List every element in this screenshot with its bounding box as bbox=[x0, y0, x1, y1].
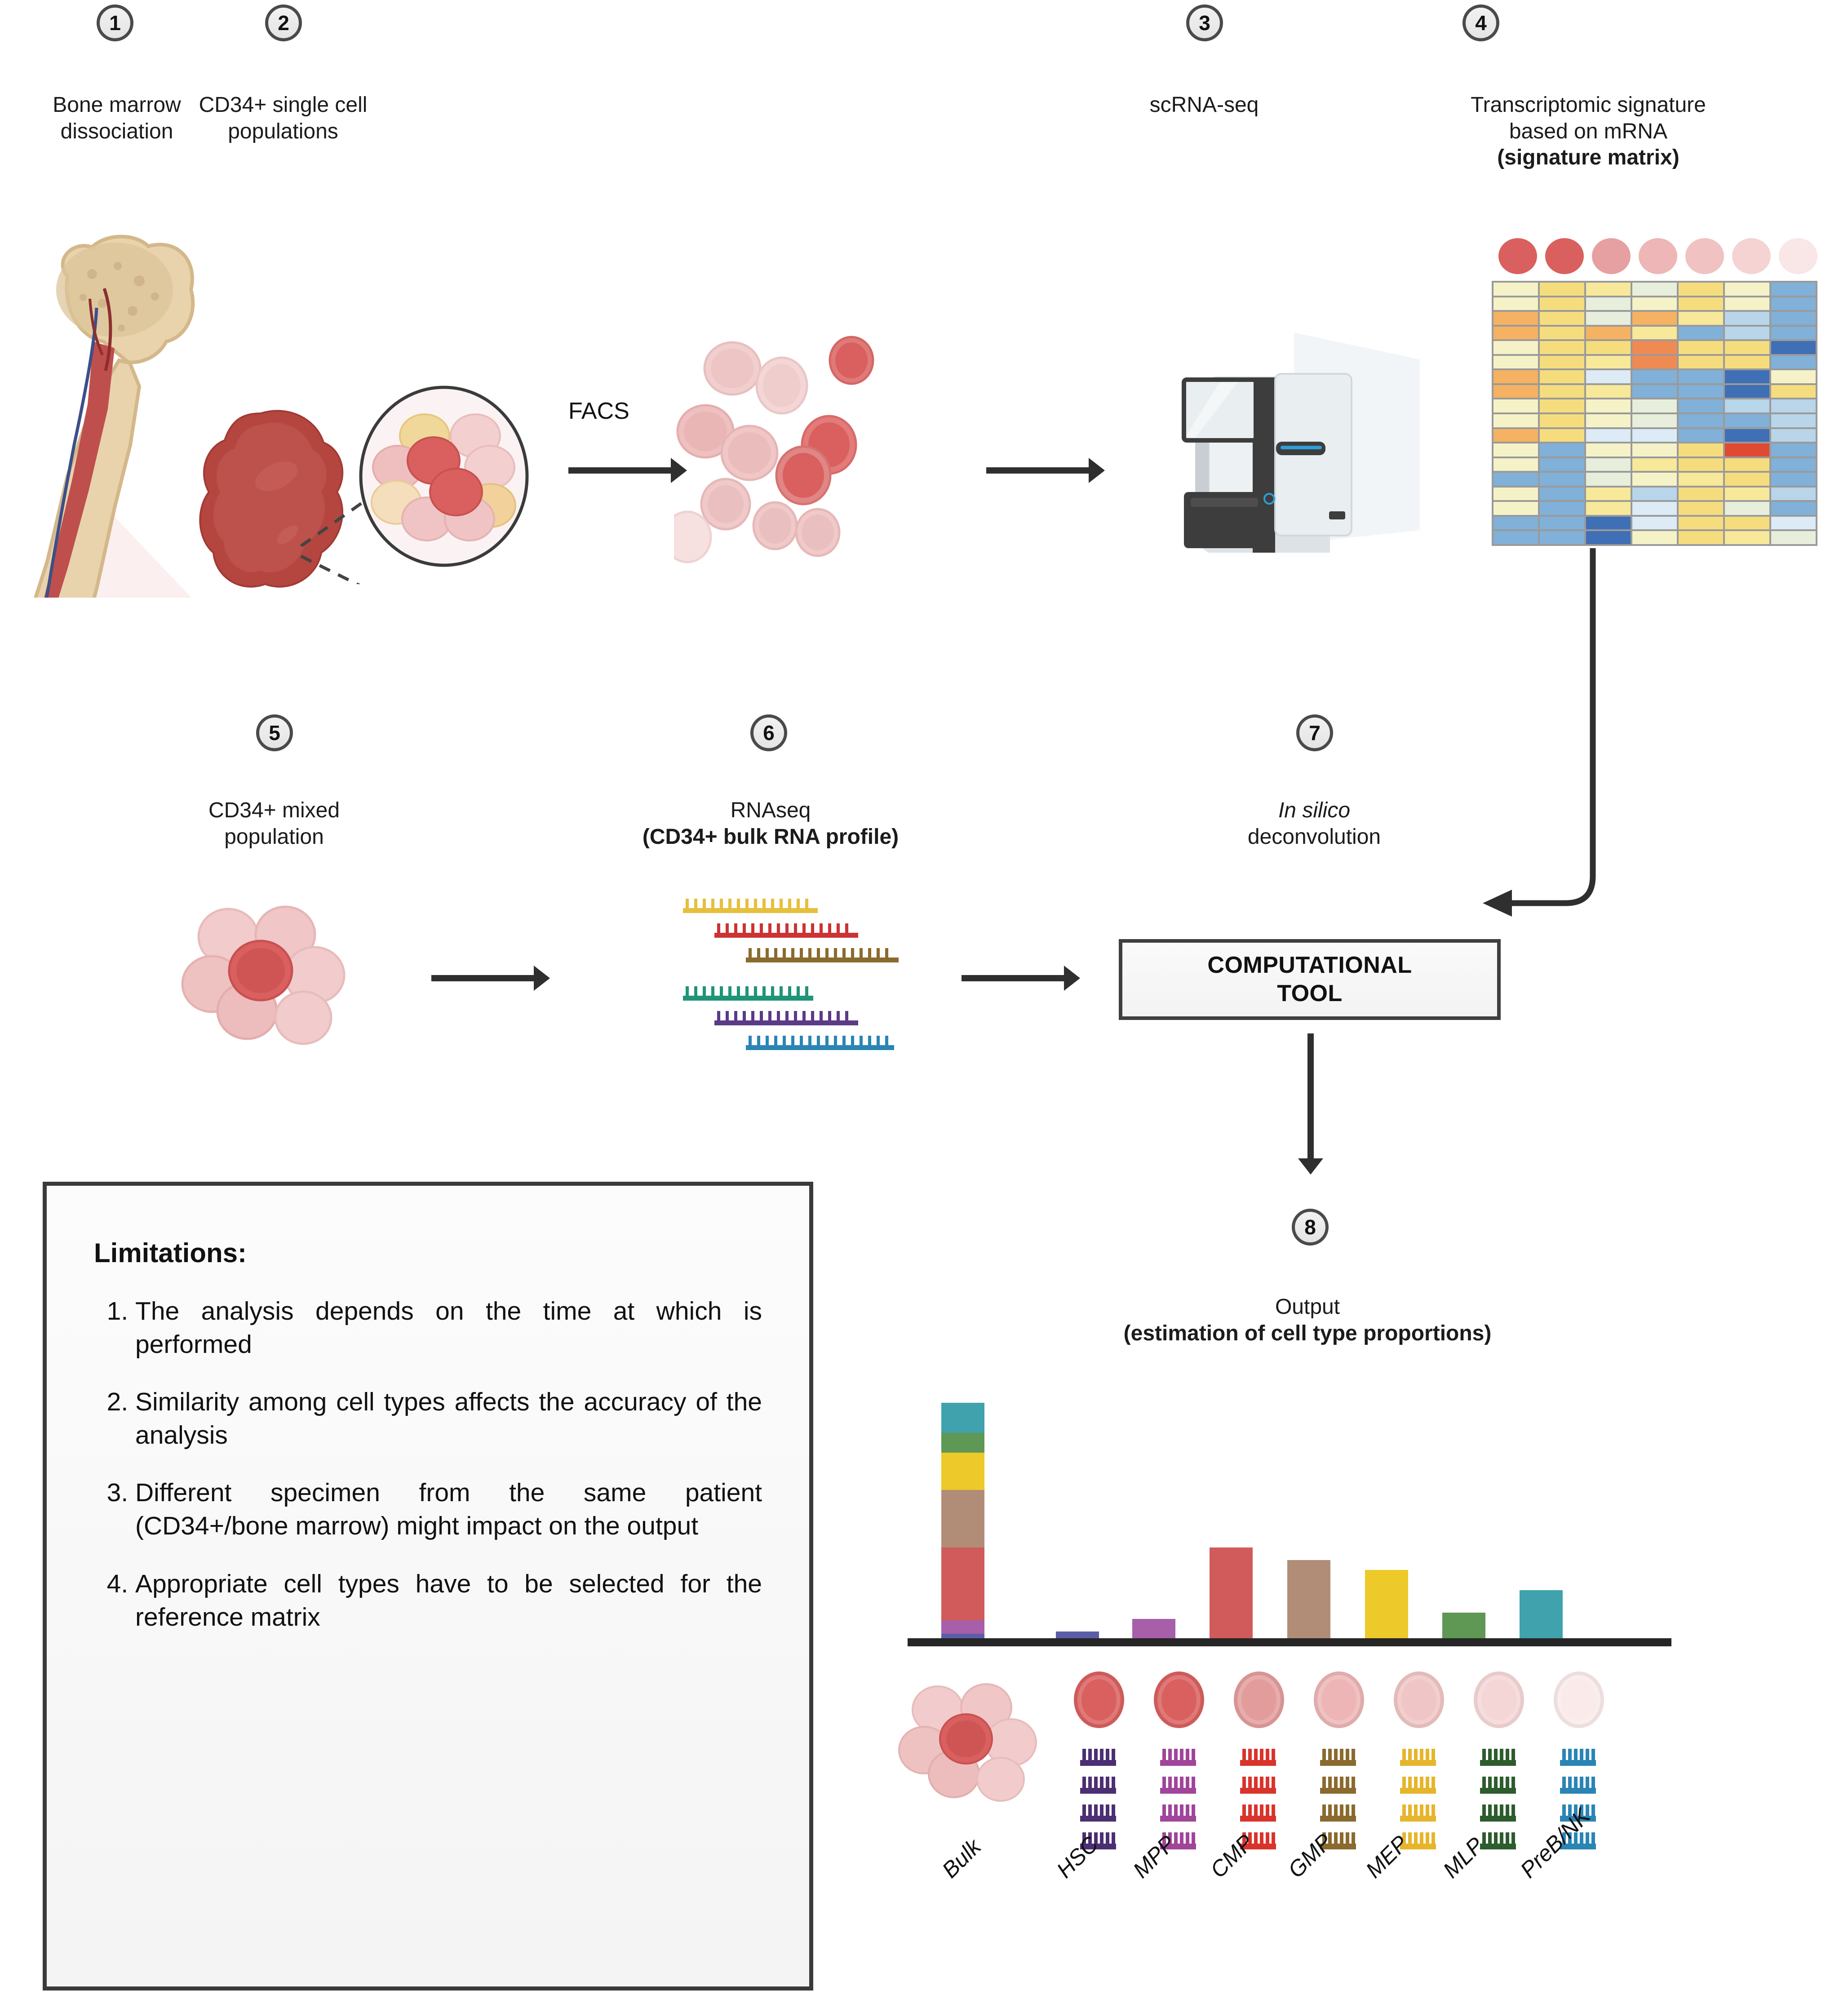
heatmap-cell bbox=[1540, 458, 1584, 471]
rna-strand bbox=[746, 1036, 894, 1050]
heatmap-cell bbox=[1725, 443, 1769, 457]
heatmap-cell bbox=[1493, 370, 1538, 383]
heatmap-cell bbox=[1586, 370, 1631, 383]
step-number: 8 bbox=[1292, 1209, 1329, 1246]
bar-mep bbox=[1365, 1570, 1408, 1640]
heatmap-cell bbox=[1679, 443, 1723, 457]
caption-line: (CD34+ bulk RNA profile) bbox=[575, 824, 966, 851]
heatmap-cell bbox=[1679, 531, 1723, 544]
heatmap-cell bbox=[1493, 341, 1538, 354]
bar-bulk bbox=[941, 1403, 984, 1640]
heatmap-cell bbox=[1540, 341, 1584, 354]
heatmap-cell bbox=[1493, 502, 1538, 515]
heatmap-cell bbox=[1725, 356, 1769, 369]
bar-mpp bbox=[1132, 1619, 1175, 1640]
heatmap-cell bbox=[1493, 488, 1538, 501]
heatmap-cell bbox=[1493, 443, 1538, 457]
heatmap-cell bbox=[1586, 531, 1631, 544]
step-number: 2 bbox=[265, 4, 302, 41]
heatmap-cell bbox=[1586, 312, 1631, 325]
cell-type-strand bbox=[1400, 1777, 1436, 1794]
heatmap-cell bbox=[1632, 458, 1677, 471]
heatmap-cell bbox=[1540, 502, 1584, 515]
caption-line: In silico bbox=[1195, 798, 1433, 824]
signature-cell bbox=[1592, 238, 1631, 274]
heatmap-cell bbox=[1725, 488, 1769, 501]
heatmap-cell bbox=[1725, 473, 1769, 486]
step-number: 4 bbox=[1462, 4, 1499, 41]
rna-strand-group bbox=[669, 899, 903, 1051]
facs-label: FACS bbox=[568, 398, 629, 425]
heatmap-cell bbox=[1632, 517, 1677, 530]
step-4-badge: 4 bbox=[1462, 4, 1499, 41]
heatmap-cell bbox=[1540, 283, 1584, 296]
heatmap-cell bbox=[1771, 414, 1816, 427]
heatmap-cell bbox=[1725, 517, 1769, 530]
step-8-badge: 8 bbox=[1292, 1209, 1329, 1246]
cell-type-icon bbox=[1554, 1671, 1604, 1728]
heatmap-cell bbox=[1540, 473, 1584, 486]
heatmap-cell bbox=[1586, 341, 1631, 354]
heatmap-cell bbox=[1771, 283, 1816, 296]
cell-type-strand bbox=[1560, 1777, 1596, 1794]
caption-line: Transcriptomic signature bbox=[1330, 92, 1847, 119]
heatmap-cell bbox=[1679, 327, 1723, 340]
cell-type-strand bbox=[1480, 1804, 1516, 1822]
heatmap-cell bbox=[1632, 414, 1677, 427]
computational-tool-box[interactable]: COMPUTATIONAL TOOL bbox=[1119, 939, 1501, 1020]
cd34-mixed-population-illustration bbox=[180, 892, 368, 1049]
step-7-caption: In silico deconvolution bbox=[1195, 798, 1433, 850]
step-number: 7 bbox=[1296, 714, 1333, 751]
limitations-box: Limitations: The analysis depends on the… bbox=[43, 1182, 813, 1991]
bone-marrow-illustration bbox=[0, 193, 539, 598]
bar-segment bbox=[1442, 1613, 1485, 1640]
heatmap-cell bbox=[1586, 429, 1631, 442]
heatmap-cell bbox=[1586, 473, 1631, 486]
cell-type-strand bbox=[1400, 1749, 1436, 1766]
heatmap-cell bbox=[1679, 458, 1723, 471]
signature-cell bbox=[1639, 238, 1677, 274]
heatmap-cell bbox=[1586, 443, 1631, 457]
step-2-caption: CD34+ single cell populations bbox=[157, 92, 409, 145]
heatmap-cell bbox=[1586, 327, 1631, 340]
step-4-caption: Transcriptomic signature based on mRNA (… bbox=[1330, 92, 1847, 171]
arrow-to-sequencer bbox=[986, 467, 1090, 474]
list-item: Appropriate cell types have to be select… bbox=[135, 1567, 762, 1634]
heatmap-cell bbox=[1586, 283, 1631, 296]
heatmap-cell bbox=[1632, 488, 1677, 501]
heatmap-cell bbox=[1632, 341, 1677, 354]
heatmap-cell bbox=[1493, 429, 1538, 442]
arrow-matrix-to-tool bbox=[1456, 548, 1707, 953]
heatmap-cell bbox=[1679, 502, 1723, 515]
heatmap-cell bbox=[1632, 370, 1677, 383]
cell-type-icon bbox=[1474, 1671, 1524, 1728]
step-number: 6 bbox=[750, 714, 787, 751]
arrow-tool-to-output bbox=[1307, 1033, 1314, 1159]
heatmap-cell bbox=[1725, 531, 1769, 544]
rna-strand bbox=[714, 1011, 858, 1025]
heatmap-cell bbox=[1493, 385, 1538, 398]
heatmap-cell bbox=[1771, 488, 1816, 501]
caption-line: CD34+ single cell bbox=[157, 92, 409, 119]
list-item: Different specimen from the same patient… bbox=[135, 1476, 762, 1543]
cell-type-icon bbox=[1394, 1671, 1444, 1728]
bar-segment bbox=[1520, 1590, 1563, 1640]
cell-type-strand bbox=[1240, 1804, 1276, 1822]
bar-segment bbox=[941, 1490, 984, 1547]
heatmap-cell bbox=[1632, 312, 1677, 325]
heatmap-cell bbox=[1632, 502, 1677, 515]
heatmap-cell bbox=[1679, 385, 1723, 398]
comp-tool-line2: TOOL bbox=[1207, 980, 1412, 1008]
cell-type-strand bbox=[1560, 1749, 1596, 1766]
heatmap-cell bbox=[1493, 414, 1538, 427]
heatmap-cell bbox=[1679, 414, 1723, 427]
heatmap-cell bbox=[1771, 429, 1816, 442]
bar-segment bbox=[1132, 1619, 1175, 1640]
heatmap-cell bbox=[1493, 356, 1538, 369]
heatmap-cell bbox=[1632, 297, 1677, 310]
heatmap-cell bbox=[1632, 356, 1677, 369]
signature-cell bbox=[1779, 238, 1817, 274]
caption-line: RNAseq bbox=[575, 798, 966, 824]
heatmap-cell bbox=[1725, 297, 1769, 310]
heatmap-cell bbox=[1679, 356, 1723, 369]
heatmap-cell bbox=[1632, 327, 1677, 340]
heatmap-cell bbox=[1771, 458, 1816, 471]
heatmap-cell bbox=[1725, 414, 1769, 427]
cell-type-strand bbox=[1240, 1749, 1276, 1766]
heatmap-cell bbox=[1586, 502, 1631, 515]
heatmap-cell bbox=[1679, 297, 1723, 310]
heatmap-cell bbox=[1493, 473, 1538, 486]
bulk-cell-clump bbox=[896, 1671, 1045, 1806]
cell-type-strand bbox=[1400, 1804, 1436, 1822]
bar-mlp bbox=[1442, 1613, 1485, 1640]
comp-tool-line1: COMPUTATIONAL bbox=[1207, 951, 1412, 980]
heatmap-cell bbox=[1679, 429, 1723, 442]
rna-strand bbox=[714, 923, 858, 938]
bar-segment bbox=[941, 1433, 984, 1453]
heatmap-cell bbox=[1771, 531, 1816, 544]
heatmap-cell bbox=[1540, 327, 1584, 340]
cell-type-icon bbox=[1314, 1671, 1364, 1728]
heatmap-cell bbox=[1540, 414, 1584, 427]
step-8-caption: Output (estimation of cell type proporti… bbox=[1020, 1294, 1595, 1347]
heatmap-cell bbox=[1586, 488, 1631, 501]
heatmap-cell bbox=[1493, 531, 1538, 544]
cell-type-strand bbox=[1080, 1749, 1116, 1766]
heatmap-cell bbox=[1725, 385, 1769, 398]
step-number: 5 bbox=[256, 714, 293, 751]
heatmap-cell bbox=[1493, 327, 1538, 340]
bar-segment bbox=[1287, 1560, 1330, 1640]
list-item: The analysis depends on the time at whic… bbox=[135, 1295, 762, 1361]
heatmap-cell bbox=[1586, 385, 1631, 398]
heatmap-cell bbox=[1679, 399, 1723, 412]
signature-matrix-heatmap bbox=[1492, 281, 1817, 546]
bar-segment bbox=[941, 1403, 984, 1433]
heatmap-cell bbox=[1771, 517, 1816, 530]
cell-type-strand bbox=[1480, 1749, 1516, 1766]
cell-type-strand bbox=[1080, 1777, 1116, 1794]
heatmap-cell bbox=[1771, 312, 1816, 325]
heatmap-cell bbox=[1771, 443, 1816, 457]
heatmap-cell bbox=[1586, 356, 1631, 369]
cell-type-strand bbox=[1160, 1777, 1196, 1794]
heatmap-cell bbox=[1493, 283, 1538, 296]
cell-type-strand bbox=[1320, 1777, 1356, 1794]
heatmap-cell bbox=[1771, 327, 1816, 340]
heatmap-cell bbox=[1725, 429, 1769, 442]
heatmap-cell bbox=[1771, 341, 1816, 354]
signature-cell bbox=[1732, 238, 1771, 274]
bar-cmp bbox=[1210, 1547, 1253, 1640]
heatmap-cell bbox=[1540, 297, 1584, 310]
bar-segment bbox=[941, 1453, 984, 1490]
heatmap-cell bbox=[1540, 531, 1584, 544]
rna-strand bbox=[683, 899, 818, 913]
step-1-badge: 1 bbox=[97, 4, 133, 41]
step-5-badge: 5 bbox=[256, 714, 293, 751]
heatmap-cell bbox=[1540, 385, 1584, 398]
step-3-badge: 3 bbox=[1186, 4, 1223, 41]
cell-type-strand bbox=[1160, 1804, 1196, 1822]
chart-axis-line bbox=[908, 1638, 1671, 1646]
heatmap-cell bbox=[1586, 458, 1631, 471]
cell-type-strand bbox=[1320, 1804, 1356, 1822]
heatmap-cell bbox=[1771, 473, 1816, 486]
caption-line: based on mRNA bbox=[1330, 119, 1847, 145]
heatmap-cell bbox=[1679, 312, 1723, 325]
bar-preb-nk bbox=[1520, 1590, 1563, 1640]
heatmap-cell bbox=[1586, 414, 1631, 427]
heatmap-cell bbox=[1540, 356, 1584, 369]
heatmap-cell bbox=[1679, 341, 1723, 354]
signature-cell-row bbox=[1498, 238, 1831, 274]
heatmap-cell bbox=[1771, 385, 1816, 398]
cell-type-strand bbox=[1240, 1777, 1276, 1794]
heatmap-cell bbox=[1771, 297, 1816, 310]
caption-line: CD34+ mixed bbox=[148, 798, 400, 824]
rna-strand bbox=[683, 986, 813, 1001]
caption-line: (signature matrix) bbox=[1330, 145, 1847, 171]
heatmap-cell bbox=[1679, 488, 1723, 501]
heatmap-cell bbox=[1725, 341, 1769, 354]
heatmap-cell bbox=[1586, 517, 1631, 530]
heatmap-cell bbox=[1540, 429, 1584, 442]
single-cell-population bbox=[674, 332, 1006, 566]
heatmap-cell bbox=[1540, 443, 1584, 457]
heatmap-cell bbox=[1493, 517, 1538, 530]
limitations-list: The analysis depends on the time at whic… bbox=[94, 1295, 762, 1634]
heatmap-cell bbox=[1632, 283, 1677, 296]
bar-segment bbox=[1210, 1547, 1253, 1640]
heatmap-cell bbox=[1771, 399, 1816, 412]
heatmap-cell bbox=[1632, 385, 1677, 398]
step-5-caption: CD34+ mixed population bbox=[148, 798, 400, 850]
heatmap-cell bbox=[1586, 297, 1631, 310]
heatmap-cell bbox=[1725, 502, 1769, 515]
chart-x-labels: BulkHSCMPPCMPGMPMEPMLPPreB/NK bbox=[908, 1865, 1761, 1995]
step-6-caption: RNAseq (CD34+ bulk RNA profile) bbox=[575, 798, 966, 850]
cell-type-strand bbox=[1080, 1804, 1116, 1822]
x-axis-label: Bulk bbox=[937, 1834, 986, 1883]
heatmap-cell bbox=[1586, 399, 1631, 412]
heatmap-cell bbox=[1540, 399, 1584, 412]
heatmap-cell bbox=[1632, 443, 1677, 457]
bar-segment bbox=[941, 1547, 984, 1620]
heatmap-cell bbox=[1725, 327, 1769, 340]
arrow-to-rnaseq bbox=[431, 975, 535, 981]
heatmap-cell bbox=[1632, 399, 1677, 412]
arrow-to-tool bbox=[962, 975, 1065, 981]
heatmap-cell bbox=[1725, 283, 1769, 296]
heatmap-cell bbox=[1632, 473, 1677, 486]
signature-cell bbox=[1685, 238, 1724, 274]
signature-cell bbox=[1498, 238, 1537, 274]
caption-line: scRNA-seq bbox=[1092, 92, 1316, 119]
heatmap-cell bbox=[1679, 473, 1723, 486]
cell-type-icon bbox=[1234, 1671, 1284, 1728]
rna-strand bbox=[746, 948, 899, 962]
heatmap-cell bbox=[1632, 531, 1677, 544]
heatmap-cell bbox=[1493, 297, 1538, 310]
signature-cell bbox=[1545, 238, 1584, 274]
heatmap-cell bbox=[1679, 370, 1723, 383]
heatmap-cell bbox=[1493, 312, 1538, 325]
caption-line: deconvolution bbox=[1195, 824, 1433, 851]
heatmap-cell bbox=[1679, 517, 1723, 530]
heatmap-cell bbox=[1632, 429, 1677, 442]
caption-line: populations bbox=[157, 119, 409, 145]
step-7-badge: 7 bbox=[1296, 714, 1333, 751]
cell-type-strand bbox=[1160, 1749, 1196, 1766]
heatmap-cell bbox=[1771, 356, 1816, 369]
arrow-facs bbox=[568, 467, 672, 474]
heatmap-cell bbox=[1771, 502, 1816, 515]
list-item: Similarity among cell types affects the … bbox=[135, 1385, 762, 1452]
sequencer-illustration bbox=[1141, 332, 1447, 566]
cell-type-strand bbox=[1480, 1777, 1516, 1794]
step-number: 1 bbox=[97, 4, 133, 41]
bar-segment bbox=[1365, 1570, 1408, 1640]
step-3-caption: scRNA-seq bbox=[1092, 92, 1316, 119]
step-2-badge: 2 bbox=[265, 4, 302, 41]
caption-line: Output bbox=[1020, 1294, 1595, 1321]
heatmap-cell bbox=[1771, 370, 1816, 383]
heatmap-cell bbox=[1725, 399, 1769, 412]
cell-type-icon bbox=[1074, 1671, 1124, 1728]
step-6-badge: 6 bbox=[750, 714, 787, 751]
output-bar-chart bbox=[908, 1388, 1680, 1654]
heatmap-cell bbox=[1725, 370, 1769, 383]
limitations-title: Limitations: bbox=[94, 1237, 762, 1268]
cell-type-icon bbox=[1154, 1671, 1204, 1728]
heatmap-cell bbox=[1725, 458, 1769, 471]
heatmap-cell bbox=[1493, 458, 1538, 471]
heatmap-cell bbox=[1540, 488, 1584, 501]
bar-segment bbox=[941, 1620, 984, 1634]
cell-type-strand bbox=[1320, 1749, 1356, 1766]
heatmap-cell bbox=[1540, 517, 1584, 530]
caption-line: (estimation of cell type proportions) bbox=[1020, 1321, 1595, 1347]
heatmap-cell bbox=[1679, 283, 1723, 296]
step-number: 3 bbox=[1186, 4, 1223, 41]
caption-line: population bbox=[148, 824, 400, 851]
bar-gmp bbox=[1287, 1560, 1330, 1640]
heatmap-cell bbox=[1540, 370, 1584, 383]
heatmap-cell bbox=[1493, 399, 1538, 412]
heatmap-cell bbox=[1540, 312, 1584, 325]
heatmap-cell bbox=[1725, 312, 1769, 325]
